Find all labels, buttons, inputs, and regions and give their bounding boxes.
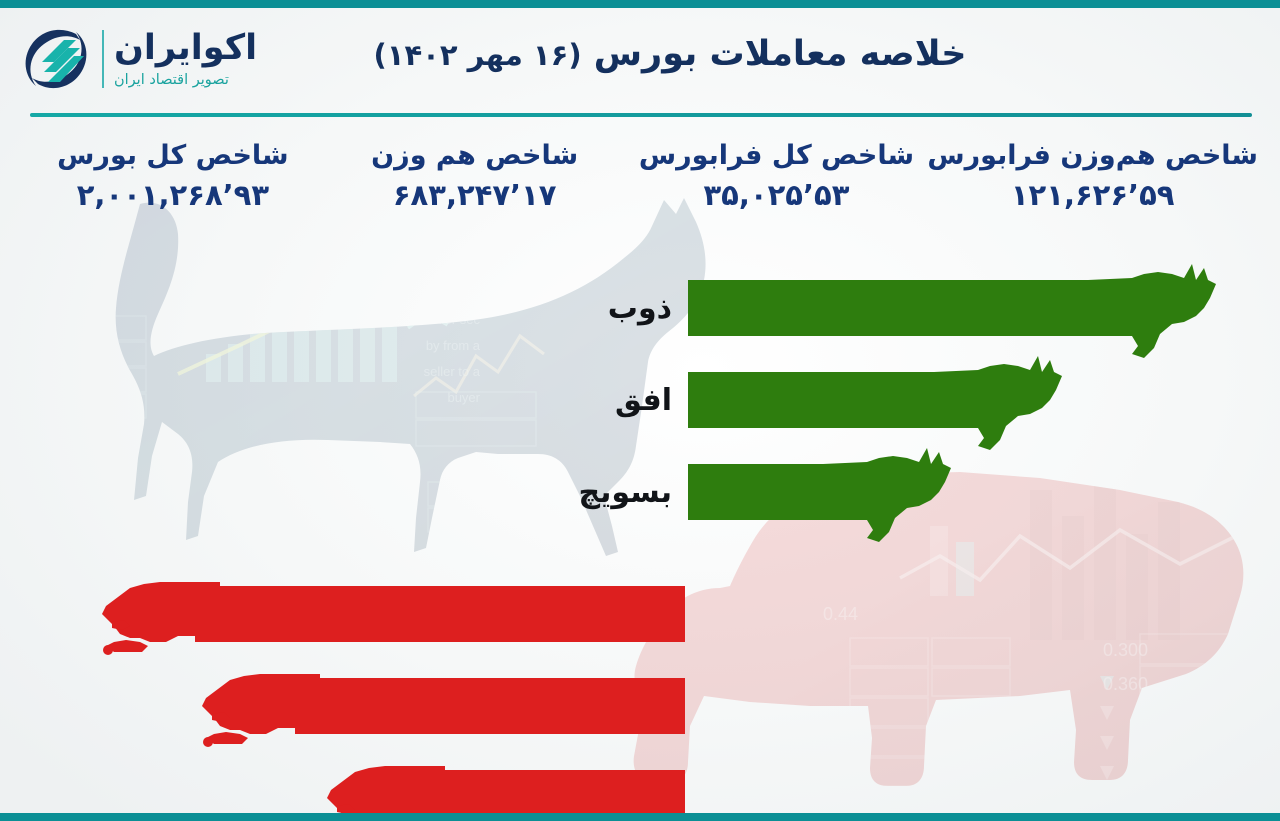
loss-bar-1 [295, 678, 685, 734]
table-row: شپنا [0, 752, 1280, 821]
bear-marker-icon [100, 564, 220, 664]
header-divider [30, 113, 1252, 117]
bull-marker-icon [823, 438, 953, 546]
stat-card-kol-boors: شاخص کل بورس ۲,۰۰۱,۲۶۸٬۹۳ [22, 140, 324, 236]
bottom-accent-bar [0, 813, 1280, 821]
stat-card-hamvazn: شاخص هم وزن ۶۸۳,۲۴۷٬۱۷ [324, 140, 626, 236]
index-stats-row: شاخص هم‌وزن فرابورس ۱۲۱,۶۲۶٬۵۹ شاخص کل ف… [0, 140, 1280, 236]
stat-label: شاخص کل بورس [22, 140, 324, 171]
bear-marker-icon [325, 748, 445, 821]
stat-value: ۶۸۳,۲۴۷٬۱۷ [324, 178, 626, 212]
table-row: ذوب [0, 262, 1280, 352]
gain-bar-1 [688, 372, 964, 428]
loss-bar-0 [195, 586, 685, 642]
page-title: خلاصه معاملات بورس (۱۶ مهر ۱۴۰۲) [373, 34, 966, 74]
stat-card-hamvazn-faraboors: شاخص هم‌وزن فرابورس ۱۲۱,۶۲۶٬۵۹ [927, 140, 1258, 236]
impact-bar-chart: ذوب افق بسویچ [0, 262, 1280, 802]
table-row: افق [0, 354, 1280, 444]
logo-tagline: تصویر اقتصاد ایران [114, 73, 229, 88]
stat-card-kol-faraboors: شاخص کل فرابورس ۳۵,۰۲۵٬۵۳ [626, 140, 928, 236]
page-title-text: خلاصه معاملات بورس [594, 34, 967, 74]
bull-marker-icon [1088, 254, 1218, 362]
bull-marker-icon [934, 346, 1064, 454]
stat-value: ۲,۰۰۱,۲۶۸٬۹۳ [22, 178, 324, 212]
stat-value: ۱۲۱,۶۲۶٬۵۹ [927, 178, 1258, 212]
stat-label: شاخص کل فرابورس [626, 140, 928, 171]
table-row: فولاد [0, 568, 1280, 658]
bar-label: بسویچ [579, 464, 673, 520]
stat-label: شاخص هم‌وزن فرابورس [927, 140, 1258, 171]
table-row: فارس [0, 660, 1280, 750]
stat-value: ۳۵,۰۲۵٬۵۳ [626, 178, 928, 212]
infographic-canvas: market idea transfer money of a stock or… [0, 0, 1280, 821]
svg-text:market idea: market idea [412, 234, 481, 249]
top-accent-bar [0, 0, 1280, 8]
bar-label: افق [615, 372, 672, 428]
table-row: بسویچ [0, 446, 1280, 536]
stat-label: شاخص هم وزن [324, 140, 626, 171]
bar-label: ذوب [608, 280, 672, 336]
title-container: خلاصه معاملات بورس (۱۶ مهر ۱۴۰۲) [0, 34, 1280, 74]
page-title-date: (۱۶ مهر ۱۴۰۲) [373, 38, 581, 72]
bear-marker-icon [200, 656, 320, 756]
gain-bar-0 [688, 280, 1118, 336]
header: اکوایران تصویر اقتصاد ایران خلاصه معاملا… [0, 8, 1280, 120]
